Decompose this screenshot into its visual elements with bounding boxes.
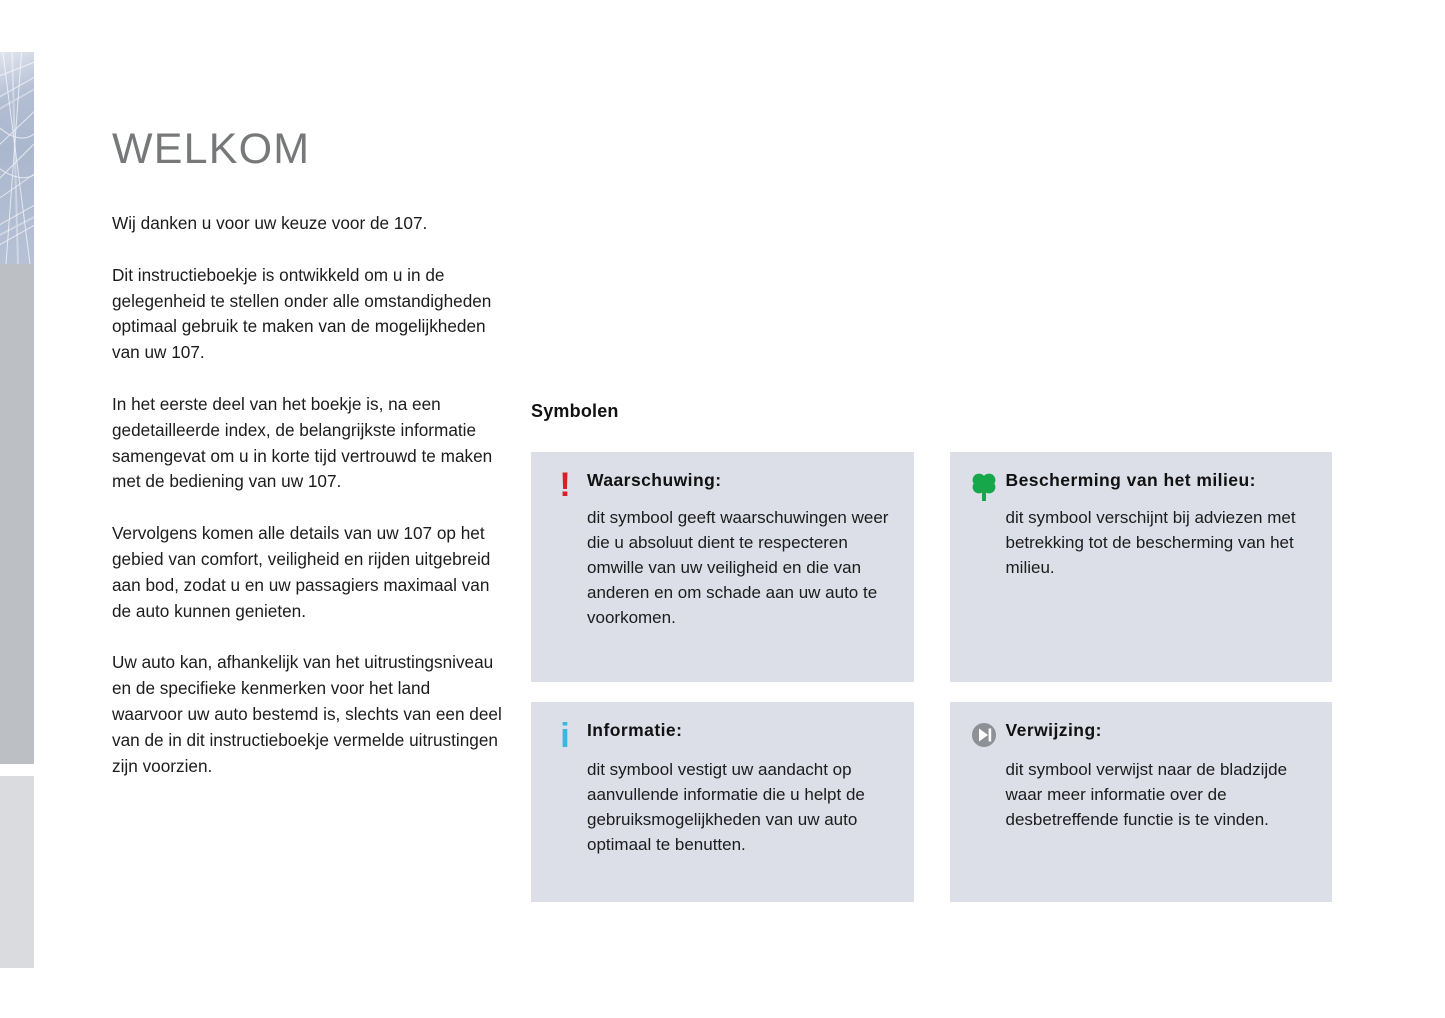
symbol-card-text: dit symbool verwijst naar de bladzijde w… <box>1006 757 1311 832</box>
left-spine <box>0 0 34 1018</box>
symbol-card-warning: ! Waarschuwing: dit symbool geeft waarsc… <box>531 452 914 682</box>
symbol-card-information: i Informatie: dit symbool vestigt uw aan… <box>531 702 914 902</box>
page-title: WELKOM <box>112 128 310 171</box>
spine-band-gray <box>0 264 34 764</box>
symbol-card-text: dit symbool geeft waarschuwingen weer di… <box>587 505 892 630</box>
symbol-card-text: dit symbool verschijnt bij adviezen met … <box>1006 505 1311 580</box>
symbol-card-title: Bescherming van het milieu: <box>1006 470 1311 491</box>
intro-paragraph: Vervolgens komen alle details van uw 107… <box>112 521 504 624</box>
spine-band-blue-texture <box>0 52 34 264</box>
symbols-grid: ! Waarschuwing: dit symbool geeft waarsc… <box>531 452 1332 902</box>
symbol-card-body: Informatie: dit symbool vestigt uw aanda… <box>583 720 892 857</box>
information-i-icon: i <box>547 720 583 750</box>
warning-exclamation-icon: ! <box>547 470 583 498</box>
intro-paragraph: Dit instructieboekje is ontwikkeld om u … <box>112 263 504 366</box>
intro-text-column: Wij danken u voor uw keuze voor de 107. … <box>112 211 504 779</box>
symbol-card-body: Waarschuwing: dit symbool geeft waarschu… <box>583 470 892 630</box>
document-page: WELKOM Wij danken u voor uw keuze voor d… <box>0 0 1445 1018</box>
symbol-card-text: dit symbool vestigt uw aandacht op aanvu… <box>587 757 892 857</box>
intro-paragraph: Uw auto kan, afhankelijk van het uitrust… <box>112 650 504 779</box>
intro-paragraph: Wij danken u voor uw keuze voor de 107. <box>112 211 504 237</box>
spine-band-light-gray <box>0 776 34 968</box>
symbols-heading: Symbolen <box>531 401 619 422</box>
symbol-card-title: Waarschuwing: <box>587 470 892 491</box>
symbol-card-title: Verwijzing: <box>1006 720 1311 741</box>
symbol-card-environment: Bescherming van het milieu: dit symbool … <box>950 452 1333 682</box>
symbol-card-reference: Verwijzing: dit symbool verwijst naar de… <box>950 702 1333 902</box>
environment-tree-icon <box>966 470 1002 502</box>
intro-paragraph: In het eerste deel van het boekje is, na… <box>112 392 504 495</box>
symbol-card-title: Informatie: <box>587 720 892 741</box>
symbols-row-top: ! Waarschuwing: dit symbool geeft waarsc… <box>531 452 1332 682</box>
symbol-card-body: Verwijzing: dit symbool verwijst naar de… <box>1002 720 1311 832</box>
symbol-card-body: Bescherming van het milieu: dit symbool … <box>1002 470 1311 580</box>
reference-skip-forward-icon <box>966 720 1002 748</box>
symbols-row-bottom: i Informatie: dit symbool vestigt uw aan… <box>531 702 1332 902</box>
